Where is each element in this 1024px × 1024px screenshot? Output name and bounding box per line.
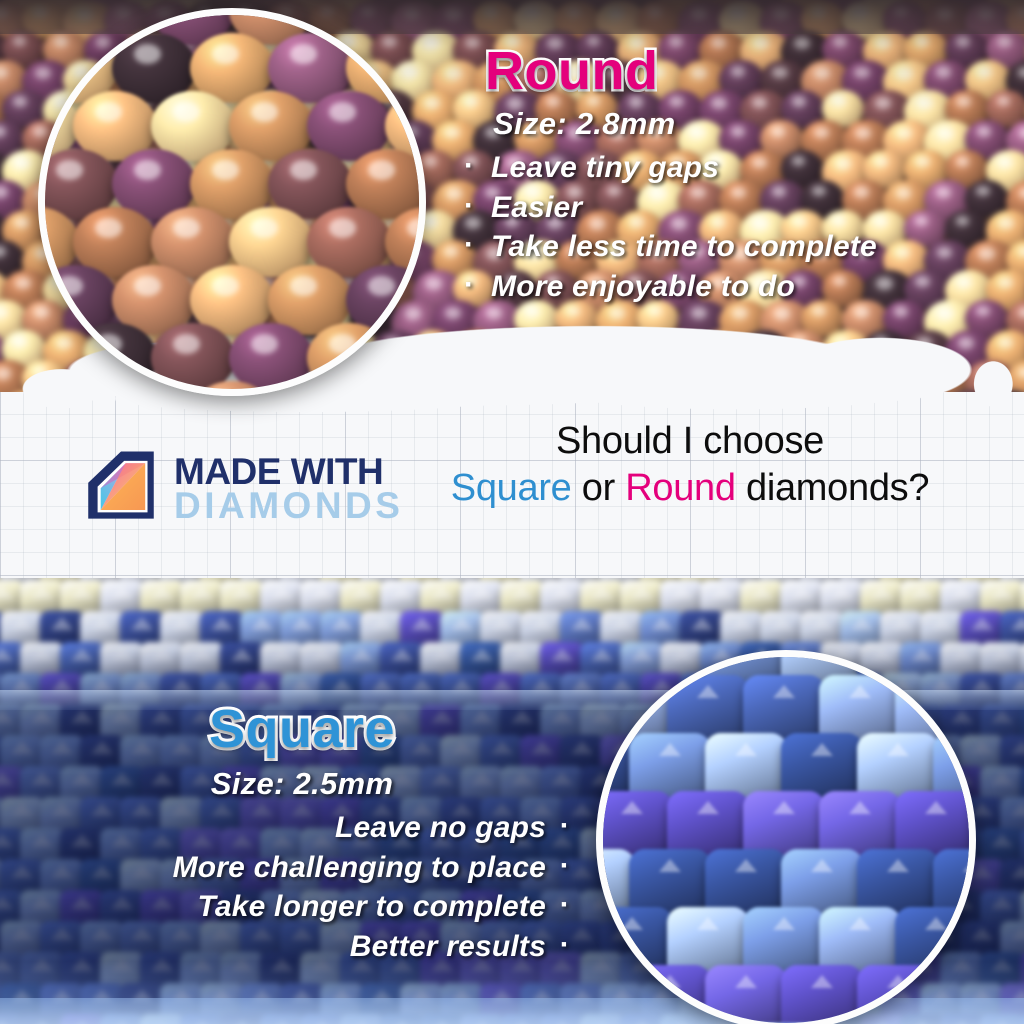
list-item-label: More challenging to place: [173, 851, 546, 884]
list-item-label: Leave tiny gaps: [491, 151, 719, 184]
list-item: ·Take less time to complete: [455, 227, 995, 267]
brand-logo[interactable]: MADE WITH DIAMONDS: [82, 450, 403, 528]
list-item-label: Leave no gaps: [335, 811, 546, 844]
centre-band: MADE WITH DIAMONDS Should I choose Squar…: [0, 392, 1024, 578]
list-item-label: Take longer to complete: [197, 890, 546, 923]
bullet-glyph: ·: [464, 146, 474, 186]
bullet-glyph: ·: [464, 186, 474, 226]
square-benefits-list: ·Leave no gaps·More challenging to place…: [24, 808, 580, 966]
list-item: ·Leave tiny gaps: [455, 148, 995, 188]
bullet-glyph: ·: [464, 225, 474, 265]
square-info-block: Square Size: 2.5mm ·Leave no gaps·More c…: [24, 702, 580, 966]
question-tail: diamonds?: [736, 467, 929, 509]
square-size-label: Size: 2.5mm: [24, 766, 580, 802]
bullet-glyph: ·: [560, 846, 570, 886]
round-benefits-list: ·Leave tiny gaps·Easier·Take less time t…: [455, 148, 995, 306]
round-info-block: Round Size: 2.8mm ·Leave tiny gaps·Easie…: [455, 44, 995, 306]
round-closeup-texture: [38, 8, 426, 396]
question-keyword-square: Square: [451, 467, 572, 509]
brand-line-made-with: MADE WITH: [174, 455, 403, 489]
question-line-2: Square or Round diamonds?: [410, 467, 970, 510]
round-diamonds-closeup-inset: [38, 8, 426, 396]
question-block: Should I choose Square or Round diamonds…: [410, 420, 970, 510]
list-item-label: Take less time to complete: [491, 230, 877, 263]
square-diamonds-closeup-inset: [596, 650, 976, 1024]
round-size-label: Size: 2.8mm: [493, 106, 995, 142]
list-item: ·Take longer to complete: [24, 887, 580, 927]
question-keyword-round: Round: [625, 467, 735, 509]
bullet-glyph: ·: [464, 265, 474, 305]
list-item-label: Easier: [491, 191, 582, 224]
square-heading: Square: [24, 702, 580, 756]
brand-wordmark: MADE WITH DIAMONDS: [174, 455, 403, 523]
list-item-label: More enjoyable to do: [491, 270, 795, 303]
brand-line-diamonds: DIAMONDS: [174, 489, 403, 523]
list-item: ·Leave no gaps: [24, 808, 580, 848]
diamond-gem-logo-icon: [82, 450, 160, 528]
question-line-1: Should I choose: [410, 420, 970, 463]
list-item: ·Easier: [455, 188, 995, 228]
square-closeup-texture: [596, 650, 976, 1024]
infographic-canvas: Round Size: 2.8mm ·Leave tiny gaps·Easie…: [0, 0, 1024, 1024]
question-conjunction: or: [572, 467, 626, 509]
round-heading: Round: [485, 44, 995, 98]
list-item-label: Better results: [350, 930, 546, 963]
list-item: ·Better results: [24, 927, 580, 967]
bullet-glyph: ·: [560, 885, 570, 925]
bullet-glyph: ·: [560, 806, 570, 846]
list-item: ·More enjoyable to do: [455, 267, 995, 307]
list-item: ·More challenging to place: [24, 848, 580, 888]
bullet-glyph: ·: [560, 925, 570, 965]
